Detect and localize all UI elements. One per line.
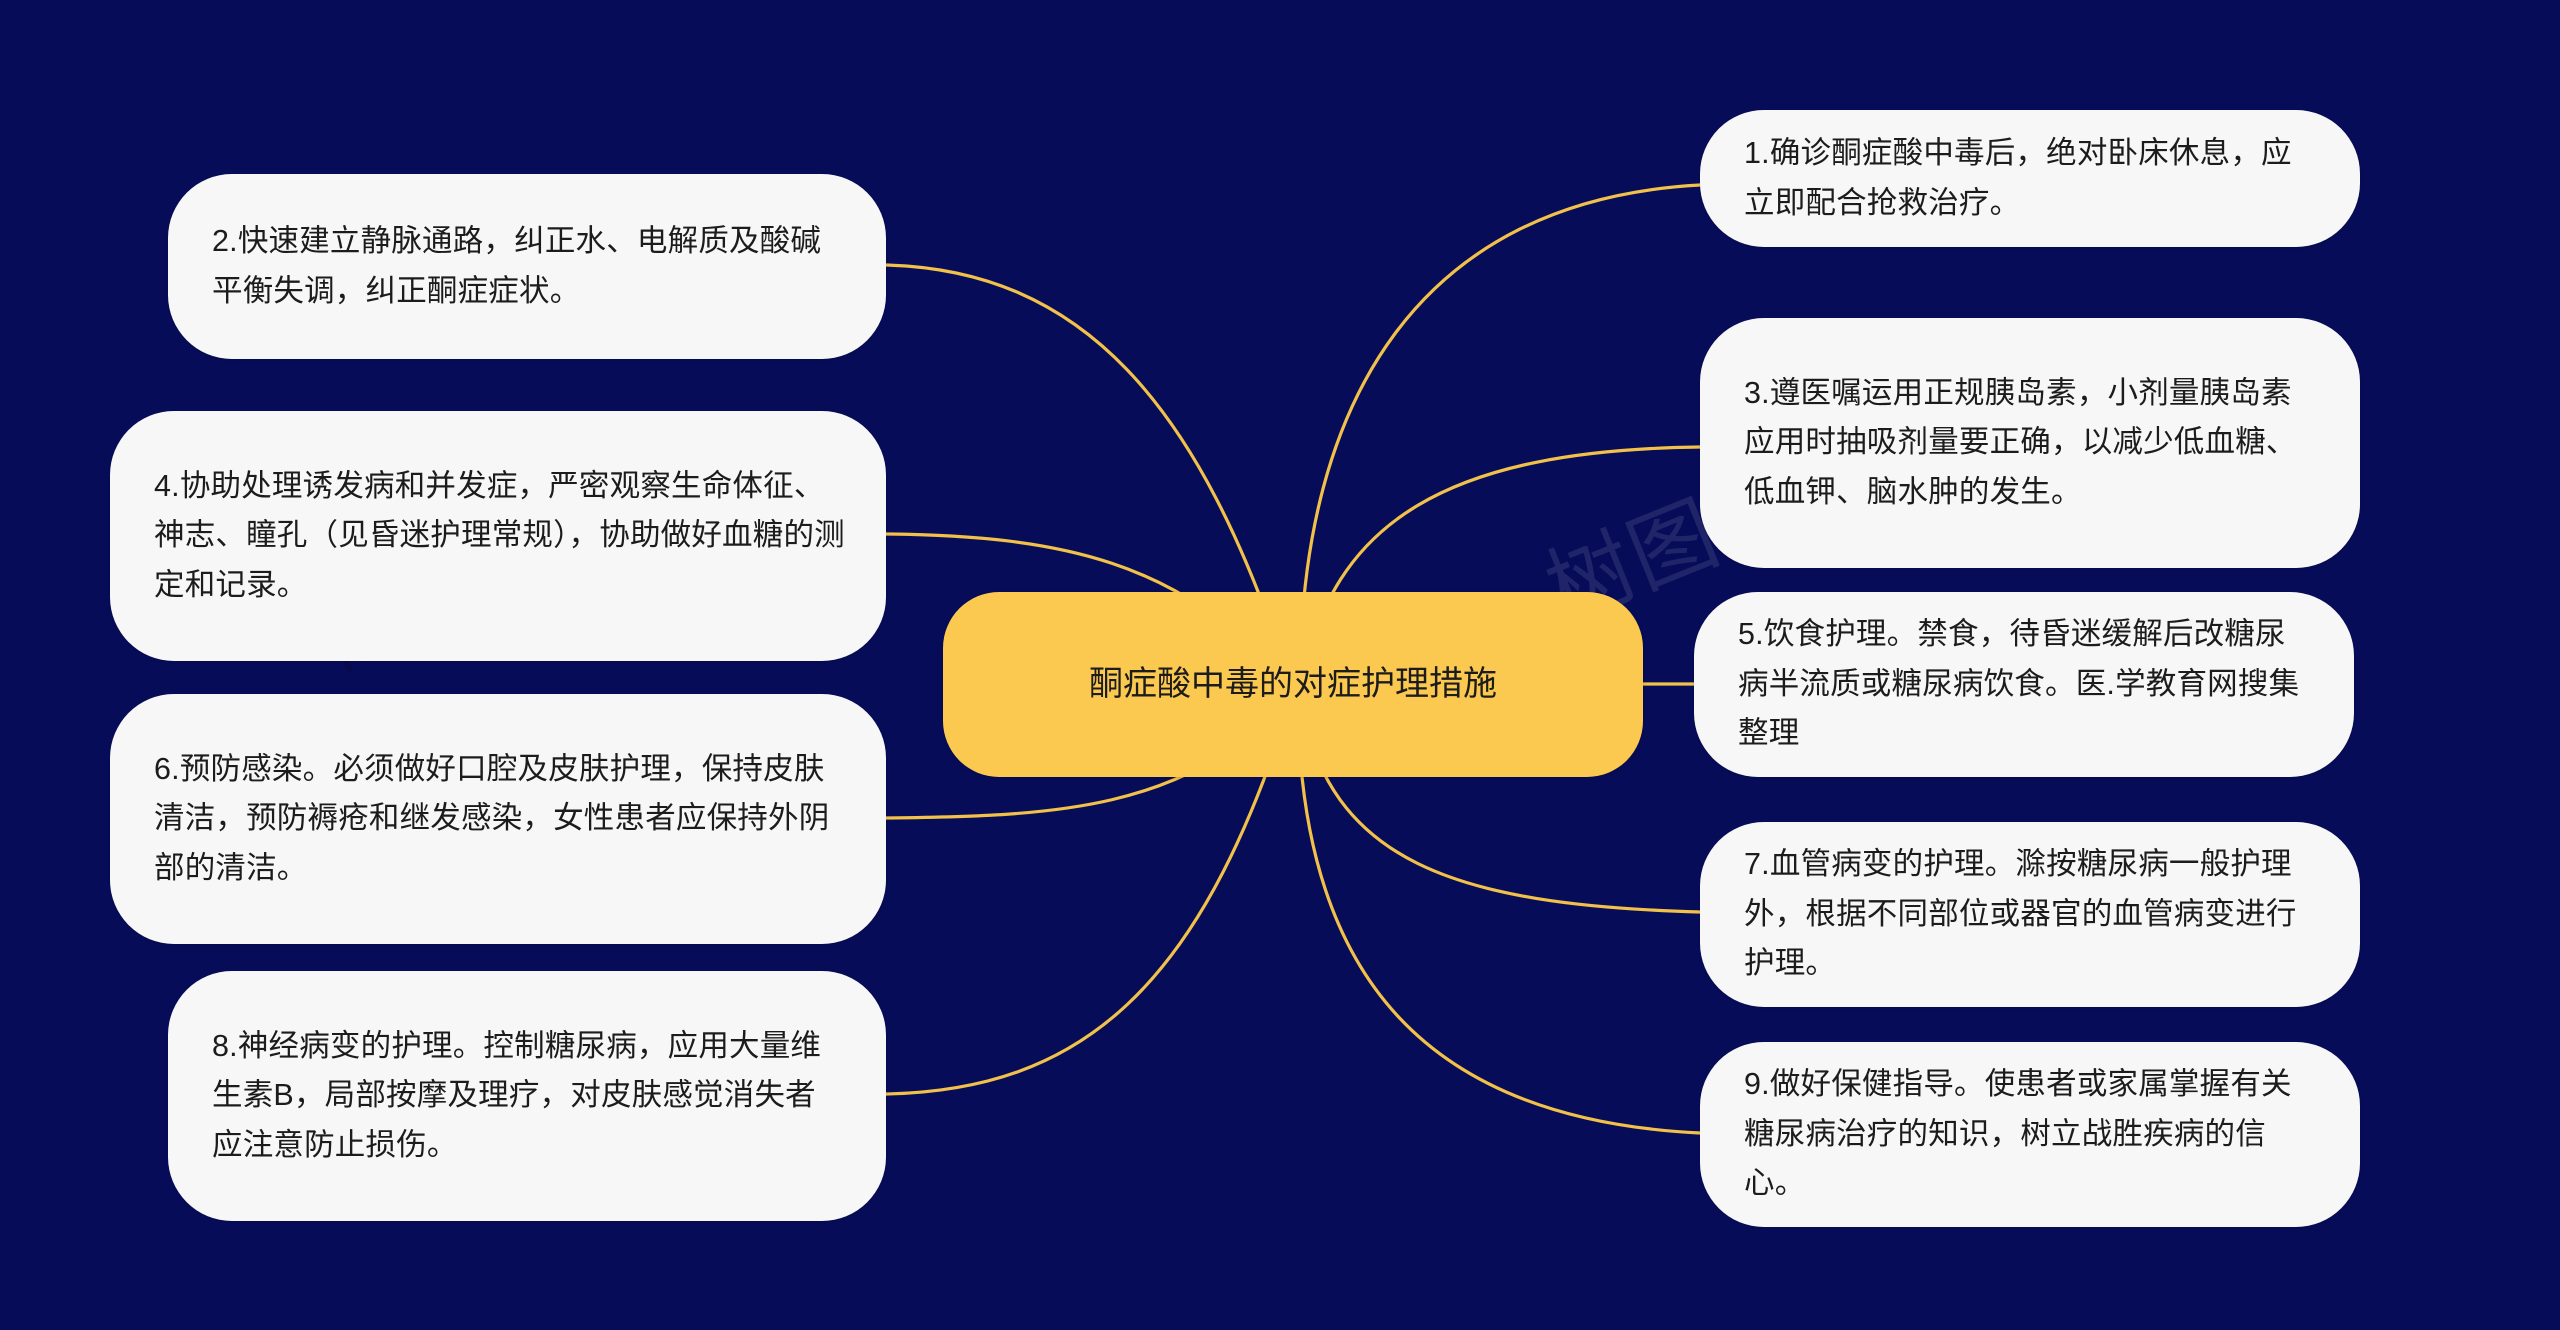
branch-node-7[interactable]: 7.血管病变的护理。滁按糖尿病一般护理外，根据不同部位或器官的血管病变进行护理。 xyxy=(1700,822,2360,1007)
branch-node-2-label: 2.快速建立静脉通路，纠正水、电解质及酸碱平衡失调，纠正酮症症状。 xyxy=(212,217,846,316)
mindmap-canvas: 树图 shutu.cn 树图 shutu.cn 酮症酸中毒的对症护理措施 2.快… xyxy=(0,0,2560,1330)
branch-node-7-label: 7.血管病变的护理。滁按糖尿病一般护理外，根据不同部位或器官的血管病变进行护理。 xyxy=(1744,840,2320,988)
branch-node-9[interactable]: 9.做好保健指导。使患者或家属掌握有关糖尿病治疗的知识，树立战胜疾病的信心。 xyxy=(1700,1042,2360,1227)
branch-node-6-label: 6.预防感染。必须做好口腔及皮肤护理，保持皮肤清洁，预防褥疮和继发感染，女性患者… xyxy=(154,745,846,893)
root-node[interactable]: 酮症酸中毒的对症护理措施 xyxy=(943,592,1643,777)
branch-node-9-label: 9.做好保健指导。使患者或家属掌握有关糖尿病治疗的知识，树立战胜疾病的信心。 xyxy=(1744,1060,2320,1208)
branch-node-3-label: 3.遵医嘱运用正规胰岛素，小剂量胰岛素应用时抽吸剂量要正确，以减少低血糖、低血钾… xyxy=(1744,369,2320,517)
branch-node-6[interactable]: 6.预防感染。必须做好口腔及皮肤护理，保持皮肤清洁，预防褥疮和继发感染，女性患者… xyxy=(110,694,886,944)
branch-node-4[interactable]: 4.协助处理诱发病和并发症，严密观察生命体征、神志、瞳孔（见昏迷护理常规），协助… xyxy=(110,411,886,661)
root-node-label: 酮症酸中毒的对症护理措施 xyxy=(1089,657,1497,711)
branch-node-3[interactable]: 3.遵医嘱运用正规胰岛素，小剂量胰岛素应用时抽吸剂量要正确，以减少低血糖、低血钾… xyxy=(1700,318,2360,568)
branch-node-5[interactable]: 5.饮食护理。禁食，待昏迷缓解后改糖尿病半流质或糖尿病饮食。医.学教育网搜集整理 xyxy=(1694,592,2354,777)
branch-node-2[interactable]: 2.快速建立静脉通路，纠正水、电解质及酸碱平衡失调，纠正酮症症状。 xyxy=(168,174,886,359)
branch-node-8[interactable]: 8.神经病变的护理。控制糖尿病，应用大量维生素B，局部按摩及理疗，对皮肤感觉消失… xyxy=(168,971,886,1221)
branch-node-1-label: 1.确诊酮症酸中毒后，绝对卧床休息，应立即配合抢救治疗。 xyxy=(1744,129,2320,228)
branch-node-5-label: 5.饮食护理。禁食，待昏迷缓解后改糖尿病半流质或糖尿病饮食。医.学教育网搜集整理 xyxy=(1738,610,2314,758)
branch-node-8-label: 8.神经病变的护理。控制糖尿病，应用大量维生素B，局部按摩及理疗，对皮肤感觉消失… xyxy=(212,1022,846,1170)
branch-node-4-label: 4.协助处理诱发病和并发症，严密观察生命体征、神志、瞳孔（见昏迷护理常规），协助… xyxy=(154,462,846,610)
branch-node-1[interactable]: 1.确诊酮症酸中毒后，绝对卧床休息，应立即配合抢救治疗。 xyxy=(1700,110,2360,247)
